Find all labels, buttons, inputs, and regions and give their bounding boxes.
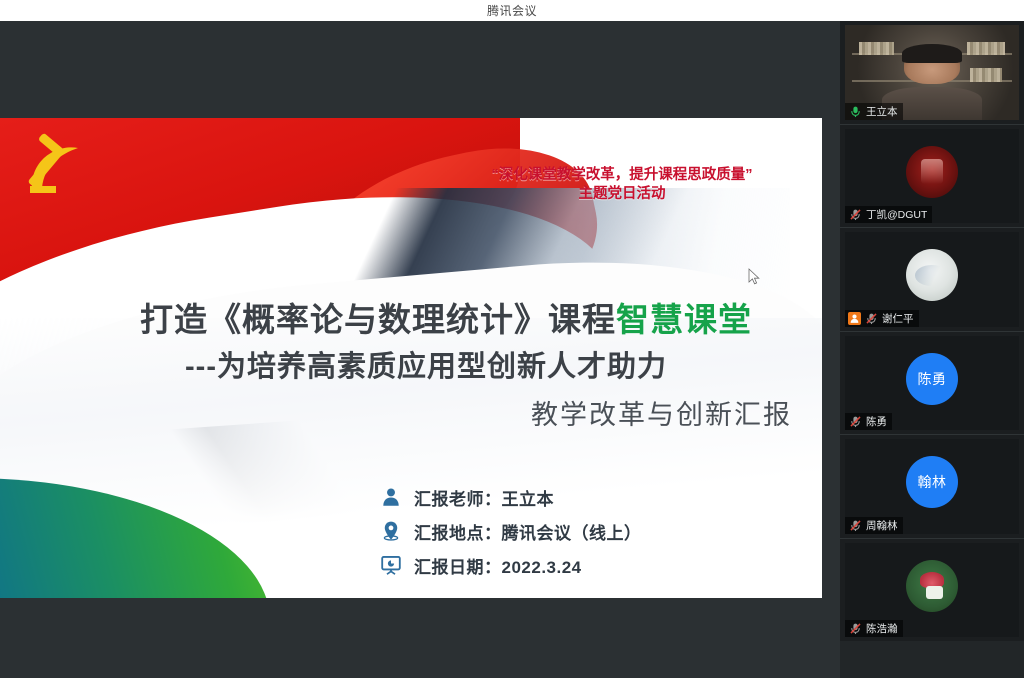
participant-filmstrip[interactable]: 王立本 bbox=[840, 21, 1024, 678]
tencent-meeting-window: 腾讯会议 bbox=[0, 0, 1024, 678]
slide-report-type: 教学改革与创新汇报 bbox=[420, 393, 792, 432]
info-row-presenter: 汇报老师：王立本 bbox=[378, 480, 778, 514]
participant-tile[interactable]: 翰林 周翰林 bbox=[840, 434, 1024, 538]
slide-header-line2: 主题党日活动 bbox=[452, 185, 792, 204]
participant-name-bar: 陈浩瀚 bbox=[845, 620, 903, 637]
person-hair-graphic bbox=[902, 44, 961, 63]
slide-title-main-text: 打造《概率论与数理统计》课程 bbox=[140, 301, 616, 338]
participant-name-bar: 陈勇 bbox=[845, 413, 892, 430]
participant-tile[interactable]: 王立本 bbox=[840, 21, 1024, 124]
window-title: 腾讯会议 bbox=[487, 2, 537, 19]
participant-name: 陈勇 bbox=[866, 414, 887, 429]
participant-name: 谢仁平 bbox=[882, 311, 914, 326]
slide-header-text: “深化课堂教学改革，提升课程思政质量” 主题党日活动 bbox=[452, 166, 792, 204]
mic-muted-icon[interactable] bbox=[848, 415, 862, 429]
participant-name: 丁凯@DGUT bbox=[866, 207, 927, 222]
participant-video-area: 王立本 bbox=[845, 25, 1019, 120]
slide-info-list: 汇报老师：王立本 汇报地点：腾讯会议（线上） bbox=[378, 480, 778, 582]
participant-name-bar: 谢仁平 bbox=[845, 310, 919, 327]
participant-name: 王立本 bbox=[866, 104, 898, 119]
participant-tile[interactable]: 陈勇 陈勇 bbox=[840, 331, 1024, 435]
mic-muted-icon[interactable] bbox=[848, 518, 862, 532]
avatar bbox=[906, 249, 958, 301]
slide-title-accent-text: 智慧课堂 bbox=[616, 301, 752, 338]
slide-subtitle: ---为培养高素质应用型创新人才助力 bbox=[185, 343, 805, 385]
participant-video-area: 丁凯@DGUT bbox=[845, 129, 1019, 224]
participant-name-bar: 周翰林 bbox=[845, 517, 903, 534]
books-graphic bbox=[970, 68, 1001, 81]
books-graphic bbox=[859, 42, 894, 55]
avatar bbox=[906, 560, 958, 612]
info-text-date: 汇报日期：2022.3.24 bbox=[414, 553, 582, 578]
avatar: 陈勇 bbox=[906, 353, 958, 405]
participant-video-area: 谢仁平 bbox=[845, 232, 1019, 327]
books-graphic bbox=[967, 42, 1005, 55]
participant-video-area: 陈勇 陈勇 bbox=[845, 336, 1019, 431]
slide-title-main: 打造《概率论与数理统计》课程智慧课堂 bbox=[140, 293, 800, 341]
presentation-chart-icon bbox=[378, 552, 404, 578]
mic-muted-icon[interactable] bbox=[864, 311, 878, 325]
participant-tile[interactable]: 丁凯@DGUT bbox=[840, 124, 1024, 228]
participant-name: 陈浩瀚 bbox=[866, 621, 898, 636]
participant-tile[interactable]: 陈浩瀚 bbox=[840, 538, 1024, 642]
location-pin-icon bbox=[378, 518, 404, 544]
presentation-slide: “深化课堂教学改革，提升课程思政质量” 主题党日活动 打造《概率论与数理统计》课… bbox=[0, 118, 822, 598]
info-text-presenter: 汇报老师：王立本 bbox=[414, 485, 554, 510]
participant-tile[interactable]: 谢仁平 bbox=[840, 227, 1024, 331]
participant-video-area: 陈浩瀚 bbox=[845, 543, 1019, 638]
avatar bbox=[906, 146, 958, 198]
person-icon bbox=[378, 484, 404, 510]
mouse-cursor-icon bbox=[748, 268, 760, 285]
mic-on-icon[interactable] bbox=[848, 104, 862, 118]
mic-muted-icon[interactable] bbox=[848, 208, 862, 222]
host-badge-icon bbox=[848, 312, 861, 325]
avatar: 翰林 bbox=[906, 456, 958, 508]
participant-name-bar: 王立本 bbox=[845, 103, 903, 120]
mic-muted-icon[interactable] bbox=[848, 622, 862, 636]
info-row-date: 汇报日期：2022.3.24 bbox=[378, 548, 778, 582]
participant-name: 周翰林 bbox=[866, 518, 898, 533]
meeting-body: “深化课堂教学改革，提升课程思政质量” 主题党日活动 打造《概率论与数理统计》课… bbox=[0, 21, 1024, 678]
window-title-bar: 腾讯会议 bbox=[0, 0, 1024, 22]
participant-name-bar: 丁凯@DGUT bbox=[845, 206, 932, 223]
info-row-location: 汇报地点：腾讯会议（线上） bbox=[378, 514, 778, 548]
info-text-location: 汇报地点：腾讯会议（线上） bbox=[414, 519, 642, 544]
shared-screen-stage[interactable]: “深化课堂教学改革，提升课程思政质量” 主题党日活动 打造《概率论与数理统计》课… bbox=[0, 21, 840, 678]
slide-header-line1: “深化课堂教学改革，提升课程思政质量” bbox=[452, 166, 792, 185]
participant-video-area: 翰林 周翰林 bbox=[845, 439, 1019, 534]
